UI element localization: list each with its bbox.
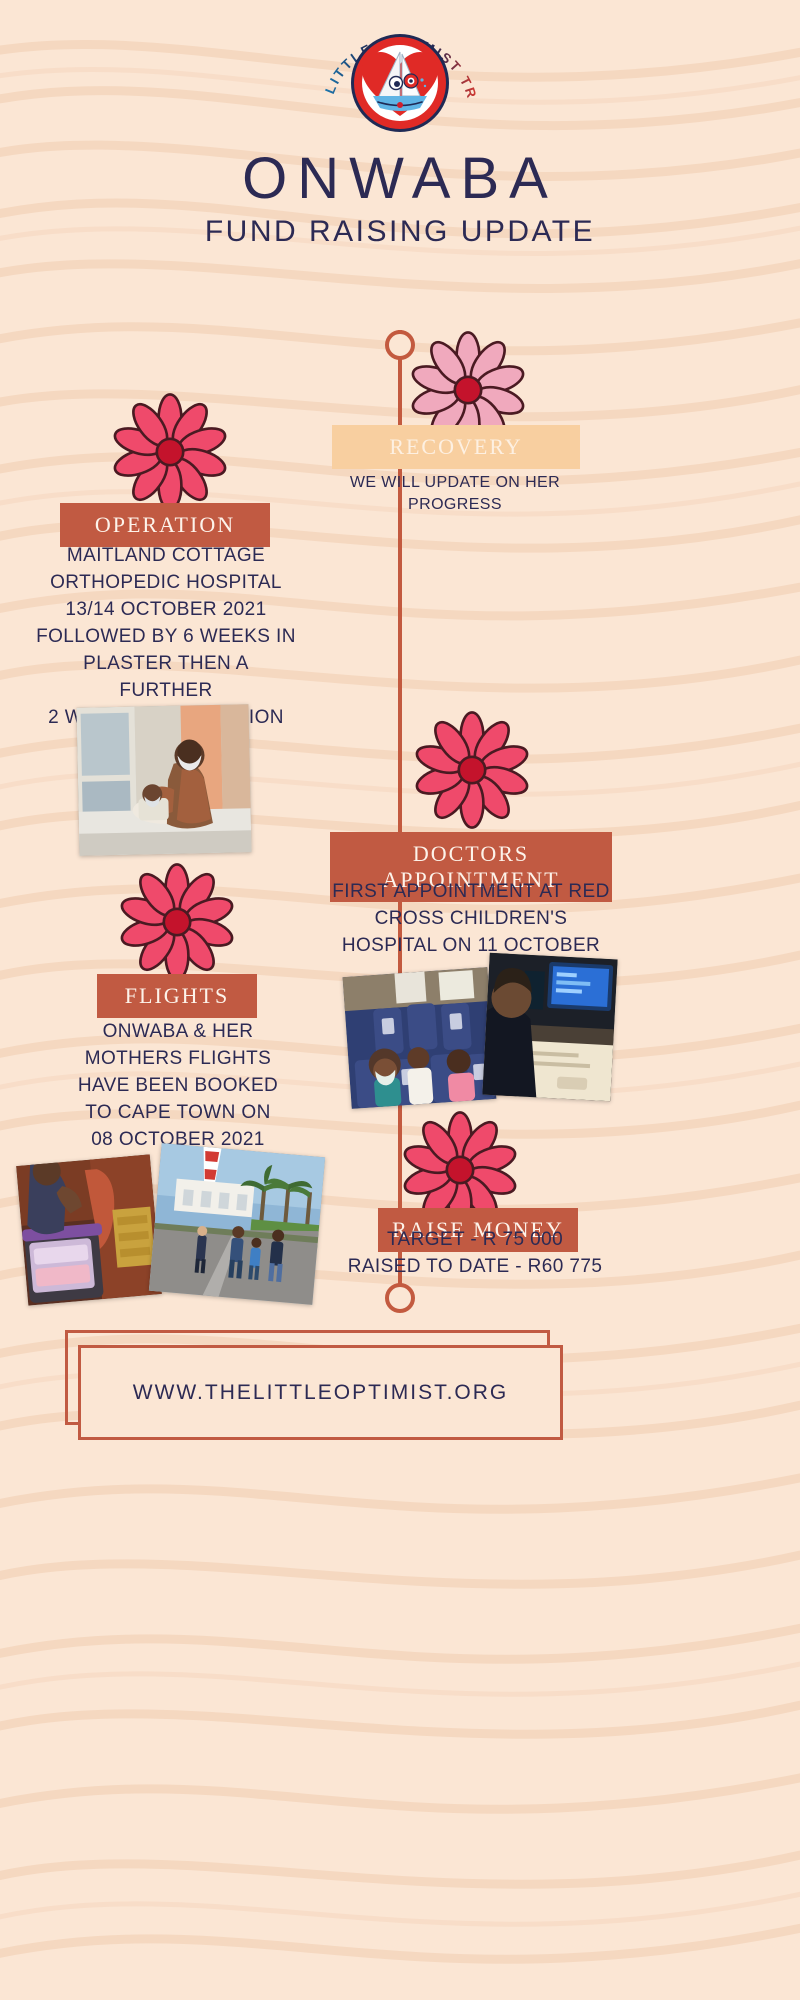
logo: THE LITTLE OPTIMIST TRUST: [310, 8, 490, 148]
infographic-page: THE LITTLE OPTIMIST TRUST ONWABA: [0, 0, 800, 2000]
logo-splash-2: [424, 85, 426, 87]
timeline-node-bottom: [385, 1283, 415, 1313]
logo-pupil-left: [394, 81, 400, 87]
logo-pupil-right-dot: [409, 79, 413, 83]
page-title: ONWABA: [0, 145, 800, 212]
section-body-operation: MAITLAND COTTAGE ORTHOPEDIC HOSPITAL 13/…: [35, 542, 297, 731]
section-banner-flights: FLIGHTS: [97, 974, 257, 1018]
photo-waiting-room: [343, 967, 497, 1109]
flower-icon-flights: [117, 862, 237, 982]
page-subtitle: FUND RAISING UPDATE: [0, 215, 800, 249]
logo-svg: THE LITTLE OPTIMIST TRUST: [310, 8, 490, 148]
photo-seapoint-promenade: [149, 1143, 325, 1305]
flower-icon-operation: [110, 392, 230, 512]
section-body-flights: ONWABA & HER MOTHERS FLIGHTS HAVE BEEN B…: [68, 1018, 288, 1153]
photo-doctor-desk: [482, 953, 617, 1102]
flower-icon-doctors-appointment: [412, 710, 532, 830]
section-body-recovery: WE WILL UPDATE ON HER PROGRESS: [330, 472, 580, 516]
section-banner-recovery: RECOVERY: [332, 425, 580, 469]
section-body-raise-money: TARGET - R 75 000 RAISED TO DATE - R60 7…: [330, 1226, 620, 1280]
photo-hospital-bed: [76, 704, 251, 856]
section-body-doctors-appointment: FIRST APPOINTMENT AT RED CROSS CHILDREN'…: [330, 878, 612, 959]
section-banner-operation: OPERATION: [60, 503, 270, 547]
logo-splash-1: [420, 78, 423, 81]
logo-tongue: [397, 102, 403, 108]
footer-website-link[interactable]: WWW.THELITTLEOPTIMIST.ORG: [78, 1345, 563, 1440]
photo-packing-suitcase: [16, 1154, 162, 1305]
